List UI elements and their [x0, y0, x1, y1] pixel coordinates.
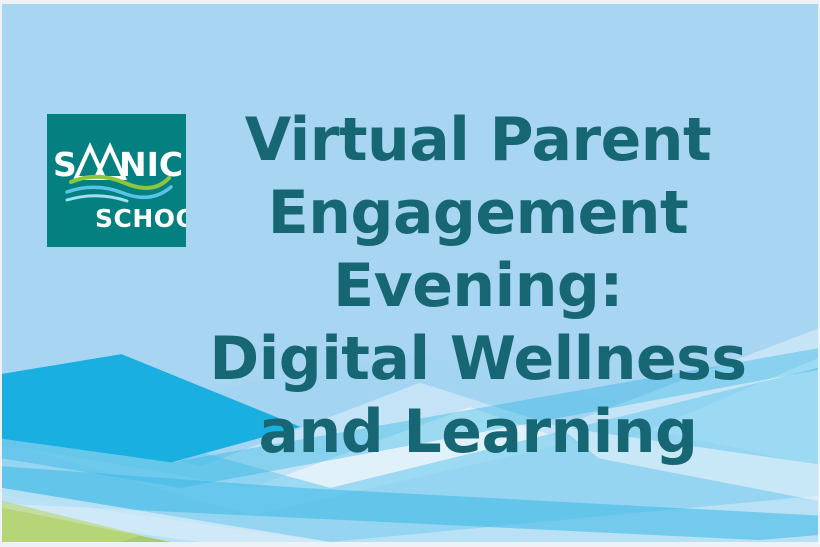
presentation-slide: S NICH SCHOOLS Virtual Parent Engagement… — [0, 0, 820, 547]
title-line-1: Virtual Parent — [198, 104, 758, 177]
green-band-soft — [2, 501, 141, 542]
title-line-5: and Learning — [198, 396, 758, 469]
title-line-3: Evening: — [198, 250, 758, 323]
logo-wordmark-schools: SCHOOLS — [95, 204, 186, 233]
logo-letter-s: S — [53, 145, 77, 184]
title-line-4: Digital Wellness — [198, 323, 758, 396]
title-line-2: Engagement — [198, 177, 758, 250]
light-ribbon — [2, 488, 330, 542]
logo-graphic: S NICH SCHOOLS — [47, 114, 186, 247]
green-band — [2, 508, 171, 542]
slide-title: Virtual Parent Engagement Evening: Digit… — [198, 104, 758, 469]
cyan-sweep — [2, 466, 818, 540]
saanich-schools-logo: S NICH SCHOOLS — [47, 114, 186, 247]
logo-letters-nich: NICH — [119, 145, 186, 184]
